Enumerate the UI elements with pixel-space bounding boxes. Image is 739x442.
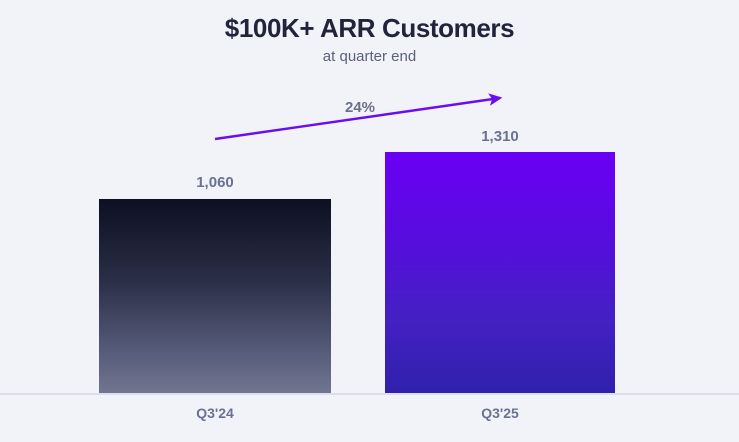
bar-value-label-q3-24: 1,060: [99, 174, 331, 192]
growth-percentage-label: 24%: [305, 99, 415, 117]
category-label-q3-24: Q3'24: [99, 404, 331, 422]
category-label-q3-25: Q3'25: [385, 404, 615, 422]
bar-value-label-q3-25: 1,310: [385, 128, 615, 146]
bar-q3-24[interactable]: [99, 199, 331, 393]
bar-q3-25[interactable]: [385, 152, 615, 393]
plot-area: 1,060 1,310 Q3'24 Q3'25 24%: [0, 0, 739, 442]
x-axis-baseline: [0, 393, 739, 395]
chart-container: $100K+ ARR Customers at quarter end 1,06…: [0, 0, 739, 442]
